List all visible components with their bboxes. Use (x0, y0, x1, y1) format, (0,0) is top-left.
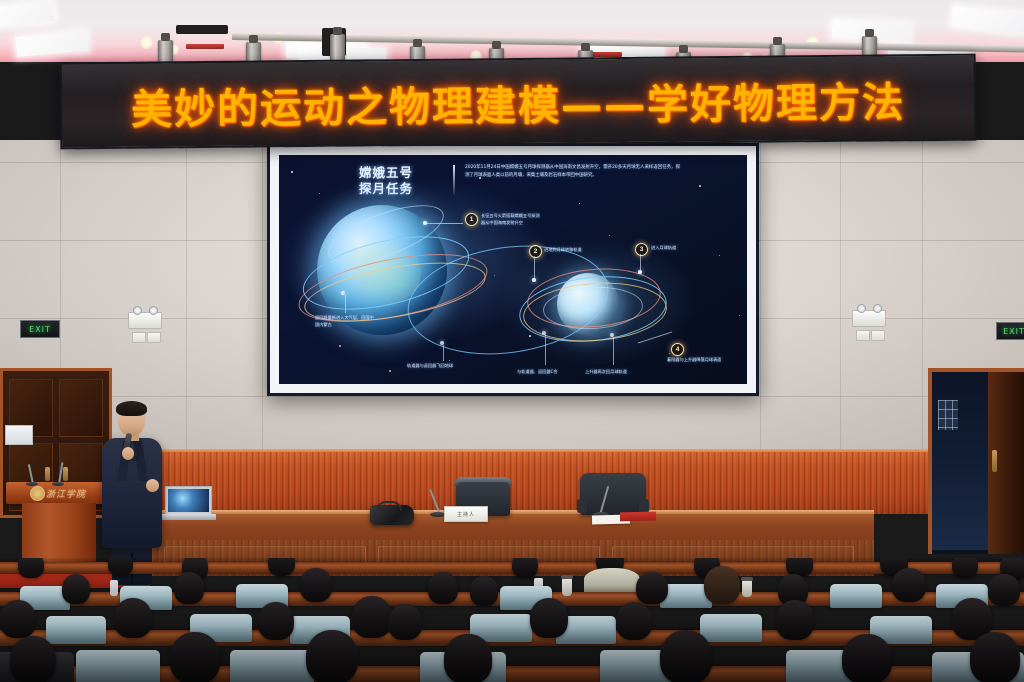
door-left-sign-plate (5, 425, 33, 445)
star (739, 315, 740, 316)
projection-screen: 嫦娥五号 探月任务 2020年11月24日中国嫦娥五号月球探测器从中国海南文昌发… (267, 143, 759, 396)
audience-head (62, 574, 90, 604)
black-handbag[interactable] (370, 505, 414, 525)
callout-dot-3 (638, 270, 642, 274)
audience-head (704, 566, 740, 604)
wall-socket-left-2[interactable] (147, 332, 161, 343)
audience-head (616, 602, 652, 640)
emergency-light-right (852, 310, 886, 327)
audience-area (0, 558, 1024, 682)
audience-seat-front[interactable] (230, 650, 314, 682)
speaker-hand-holding-mic (122, 447, 134, 460)
ceiling-panel-light (0, 1, 55, 27)
audience-head-front (970, 632, 1020, 682)
ceiling-downlight (140, 36, 153, 49)
audience-head (892, 568, 926, 602)
audience-head-front (842, 634, 892, 682)
star (389, 370, 391, 372)
audience-seat-front[interactable] (76, 650, 160, 682)
table-nameplate: 主持人 (444, 506, 488, 522)
water-bottle[interactable] (110, 580, 118, 596)
exit-running-man-icon: EXIT (1003, 327, 1024, 336)
slide-lower-label-3: 与轨道器、返回器C合 (517, 369, 579, 376)
paper-cup[interactable] (742, 580, 752, 597)
audience-head-front (306, 630, 358, 682)
audience-head-front (660, 630, 712, 682)
screen-matte: 嫦娥五号 探月任务 2020年11月24日中国嫦娥五号月球探测器从中国海南文昌发… (270, 146, 756, 393)
wall-socket-left[interactable] (132, 332, 146, 343)
callout-number-2: 2 (529, 245, 542, 258)
audience-head (18, 558, 44, 578)
callout-label-3: 进入月球轨道 (651, 245, 703, 252)
callout-label-1: 长征五号火箭搭载嫦娥五号探测器从中国海南发射升空 (481, 213, 543, 226)
audience-head (988, 574, 1020, 606)
lower-dot-4 (610, 333, 614, 337)
audience-shoulders (584, 568, 640, 594)
star (449, 360, 450, 361)
microphone-base (26, 482, 38, 486)
lower-leader-3 (545, 335, 546, 365)
callout-leader-1 (427, 223, 463, 224)
emergency-lamp-icon (149, 306, 158, 315)
slide-paragraph: 2020年11月24日中国嫦娥五号月球探测器从中国海南文昌发射升空，需开20多天… (465, 164, 680, 179)
slide-content: 嫦娥五号 探月任务 2020年11月24日中国嫦娥五号月球探测器从中国海南文昌发… (279, 155, 747, 384)
emergency-lamp-icon (857, 304, 866, 313)
star (699, 185, 701, 187)
door-right-opening (932, 372, 988, 550)
callout-number-3: 3 (635, 243, 648, 256)
exit-sign-left: EXIT (20, 320, 60, 338)
audience-head (530, 598, 568, 638)
exit-running-man-icon: EXIT (29, 325, 51, 334)
red-book[interactable] (620, 512, 656, 522)
slide-title: 嫦娥五号 探月任务 (331, 165, 441, 196)
audience-head (470, 576, 498, 606)
corridor-window-grid (938, 400, 958, 430)
audience-head (776, 600, 814, 640)
star (579, 203, 580, 204)
audience-head (952, 558, 978, 578)
callout-leader-4 (638, 331, 673, 343)
star (719, 255, 720, 256)
lower-leader-4 (613, 337, 614, 365)
led-banner: 美妙的运动之物理建模——学好物理方法 (60, 54, 977, 150)
slide-lower-label-1: 返回器重新进入大气层，回国中国内蒙古 (315, 315, 377, 328)
callout-label-4: 着陆器与上升器降落月球表面 (667, 357, 725, 364)
cup-lid (741, 577, 753, 581)
audience-head-front (170, 632, 220, 682)
audience-head (428, 572, 458, 604)
door-handle-icon[interactable] (63, 467, 68, 481)
callout-number-1: 1 (465, 213, 478, 226)
star (669, 353, 670, 354)
track-fixture-box (176, 25, 228, 34)
lower-leader-2 (443, 345, 444, 361)
emergency-lamp-icon (133, 306, 142, 315)
speaker-hair (116, 401, 147, 416)
callout-number-4: 4 (671, 343, 684, 356)
podium-institution-text: 浙江学院 (46, 487, 86, 500)
star (609, 235, 610, 236)
audience-head (300, 568, 332, 602)
audience-head-front (10, 636, 56, 682)
audience-head (114, 598, 152, 638)
star (319, 193, 320, 194)
lower-leader-1 (345, 295, 346, 313)
slide-lower-label-4: 上升器再次回月球轨道 (585, 369, 653, 376)
ceiling (0, 0, 1024, 62)
audience-head (108, 558, 133, 576)
audience-head-front (444, 634, 492, 682)
university-seal-icon (30, 486, 45, 501)
star (339, 345, 341, 347)
emergency-lamp-icon (873, 304, 882, 313)
emergency-light-left (128, 312, 162, 329)
audience-head (0, 600, 36, 638)
presenter-laptop-base (160, 514, 216, 520)
door-handle-icon[interactable] (992, 450, 997, 472)
wall-socket-right-2[interactable] (871, 330, 885, 341)
lower-dot-2 (440, 341, 444, 345)
audience-seat[interactable] (700, 614, 762, 642)
audience-seat[interactable] (830, 584, 882, 608)
presenter-laptop-screen[interactable] (165, 486, 212, 515)
audience-head (512, 558, 538, 578)
laptop-display-content (168, 489, 209, 512)
slide-title-line1: 嫦娥五号 (331, 165, 441, 181)
audience-seat[interactable] (46, 616, 106, 644)
slide-lower-label-2: 轨道器与返回器飞回地球 (407, 363, 479, 370)
speaker-person (96, 403, 168, 583)
slide-title-line2: 探月任务 (331, 181, 441, 197)
audience-head (636, 572, 668, 604)
callout-dot-1 (423, 221, 427, 225)
audience-head (174, 572, 204, 604)
chair-right[interactable] (580, 473, 646, 515)
exit-sign-right: EXIT (996, 322, 1024, 340)
wall-socket-right[interactable] (856, 330, 870, 341)
callout-label-2: 进地到月球转移轨道 (544, 247, 608, 254)
callout-dot-2 (532, 278, 536, 282)
audience-head (352, 596, 392, 638)
callout-leader-2 (534, 256, 535, 280)
door-handle-icon[interactable] (45, 467, 50, 481)
chair-backrest (580, 473, 646, 515)
door-right-leaf[interactable] (988, 372, 1024, 554)
ceiling-panel-light (15, 31, 88, 57)
microphone-base (52, 482, 64, 486)
audience-head (258, 602, 294, 640)
lower-dot-3 (542, 331, 546, 335)
banner-title-text: 美妙的运动之物理建模——学好物理方法 (62, 67, 975, 136)
chair-armrest (577, 499, 587, 513)
paper-cup[interactable] (562, 578, 572, 596)
lower-dot-1 (341, 291, 345, 295)
speaker-gesturing-hand (146, 479, 159, 492)
audience-head (268, 558, 295, 576)
cup-lid (561, 575, 573, 579)
lecture-hall-photo: EXIT EXIT (0, 0, 1024, 682)
star (291, 171, 293, 173)
ceiling-panel-light (951, 6, 1024, 34)
audience-head (388, 604, 422, 640)
slide-title-divider (453, 165, 455, 195)
track-heater-bar (186, 44, 224, 49)
